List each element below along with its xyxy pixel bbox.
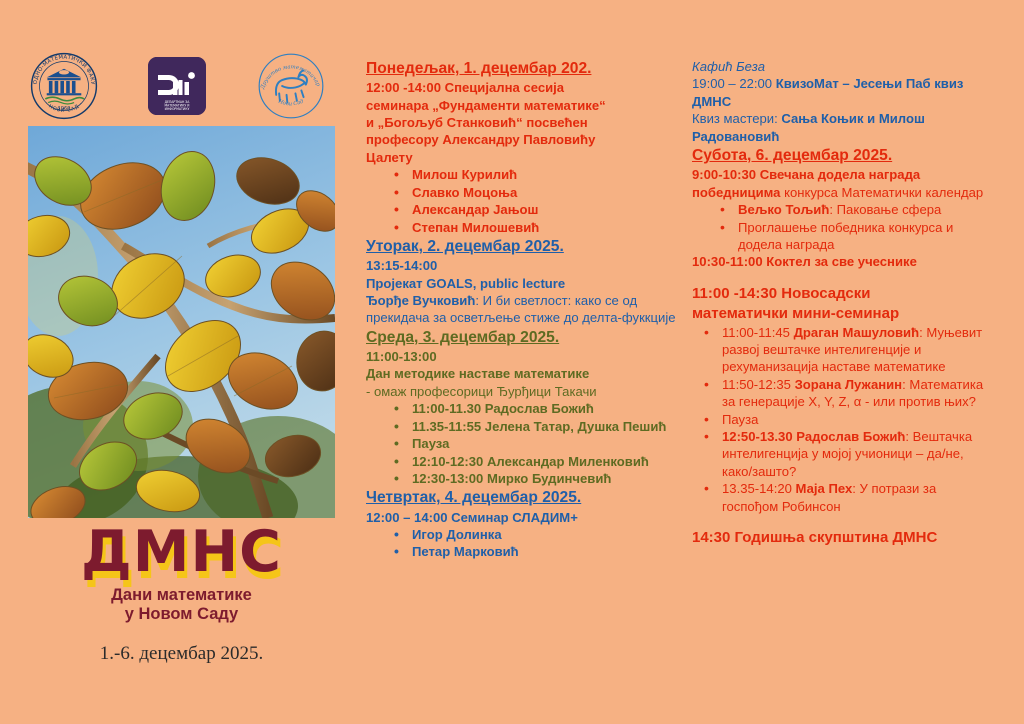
svg-text:Нови Сад: Нови Сад <box>276 98 305 107</box>
list-item: Пауза <box>692 411 992 428</box>
dmns-wordmark: ДМНС ДМНС Дани математике у Новом Саду <box>28 524 335 625</box>
quiz-venue: Кафић Беза <box>692 58 992 75</box>
block-friday-quiz: Кафић Беза 19:00 – 22:00 КвизоМат – Јесе… <box>692 58 992 145</box>
mini-item-3-speaker: Радослав Божић <box>796 429 905 444</box>
list-item: Игор Долинка <box>366 526 678 543</box>
day-title-thursday: Четвртак, 4. децембар 2025. <box>366 488 678 508</box>
wednesday-heading: Дан методике наставе математике <box>366 365 678 382</box>
block-saturday: Субота, 6. децембар 2025. 9:00-10:30 Све… <box>692 146 992 271</box>
wednesday-item-list: 11:00-11.30 Радослав Божић 11.35-11:55 Ј… <box>366 400 678 487</box>
thursday-item-list: Игор Долинка Петар Марковић <box>366 526 678 561</box>
saturday-awards: 9:00-10:30 Свечана додела награда победн… <box>692 166 992 201</box>
mini-item-0-time: 11:00-11:45 <box>722 325 794 340</box>
mini-item-4-time: 13.35-14:20 <box>722 481 796 496</box>
day-title-tuesday: Уторак, 2. децембар 2025. <box>366 237 678 257</box>
monday-line-5: Цалету <box>366 149 678 166</box>
quiz-time-title: 19:00 – 22:00 КвизоМат – Јесењи Паб квиз… <box>692 75 992 110</box>
day-title-monday: Понедељак, 1. децембар 202. <box>366 59 678 79</box>
autumn-leaves-photo <box>28 126 335 518</box>
mini-seminar-list: 11:00-11:45 Драган Машуловић: Муњевит ра… <box>692 324 992 515</box>
day-title-saturday: Субота, 6. децембар 2025. <box>692 146 992 166</box>
pmf-logo: ПРИРОДНО-МАТЕМАТИЧКИ ФАКУЛТЕТ · НОВИ САД… <box>28 50 100 122</box>
monday-line-3: и „Богољуб Станковић“ посвећен <box>366 114 678 131</box>
saturday-item-list: Вељко Тољић: Паковање сфера Проглашење п… <box>692 201 992 253</box>
annual-assembly: 14:30 Годишња скупштина ДМНС <box>692 528 992 548</box>
tuesday-time: 13:15-14:00 <box>366 257 678 274</box>
svg-text:1969: 1969 <box>58 106 71 112</box>
list-item: 11.35-11:55 Јелена Татар, Душка Пешић <box>366 418 678 435</box>
mini-item-1-speaker: Зорана Лужанин <box>795 377 903 392</box>
list-item: Пауза <box>366 435 678 452</box>
mini-item-0-speaker: Драган Машуловић <box>794 325 920 340</box>
logo-row: ПРИРОДНО-МАТЕМАТИЧКИ ФАКУЛТЕТ · НОВИ САД… <box>28 48 328 124</box>
wednesday-note: - омаж професорици Ђурђици Такачи <box>366 383 678 400</box>
list-item: 11:50-12:35 Зорана Лужанин: Математика з… <box>692 376 992 411</box>
day-title-wednesday: Среда, 3. децембар 2025. <box>366 328 678 348</box>
monday-line-1: 12:00 -14:00 Специјална сесија <box>366 79 678 96</box>
svg-text:ПРИРОДНО-МАТЕМАТИЧКИ ФАКУЛТЕТ: ПРИРОДНО-МАТЕМАТИЧКИ ФАКУЛТЕТ <box>28 50 95 86</box>
left-rail: ПРИРОДНО-МАТЕМАТИЧКИ ФАКУЛТЕТ · НОВИ САД… <box>0 0 356 724</box>
dmns-society-logo: Друштво математичара Нови Сад <box>254 49 328 123</box>
saturday-awards-plain: конкурса Математички календар <box>780 185 983 200</box>
list-item: 13.35-14:20 Маја Пех: У потрази за госпо… <box>692 480 992 515</box>
saturday-item-1-title: Проглашење победника конкурса и додела н… <box>738 220 953 252</box>
event-dates: 1.-6. децембар 2025. <box>28 643 335 665</box>
mini-item-4-speaker: Маја Пех <box>796 481 853 496</box>
block-mini-seminar: 11:00 -14:30 Новосадски математички мини… <box>692 284 992 515</box>
mini-seminar-heading-2: математички мини-семинар <box>692 304 992 324</box>
saturday-item-0-speaker: Вељко Тољић <box>738 202 829 217</box>
block-tuesday: Уторак, 2. децембар 2025. 13:15-14:00 Пр… <box>366 237 678 327</box>
poster-root: ПРИРОДНО-МАТЕМАТИЧКИ ФАКУЛТЕТ · НОВИ САД… <box>0 0 1024 724</box>
list-item: 11:00-11.30 Радослав Божић <box>366 400 678 417</box>
block-thursday: Четвртак, 4. децембар 2025. 12:00 – 14:0… <box>366 488 678 560</box>
svg-text:ИНФОРМАТИКУ: ИНФОРМАТИКУ <box>165 107 190 111</box>
mini-item-1-time: 11:50-12:35 <box>722 377 795 392</box>
saturday-cocktail: 10:30-11:00 Коктел за све учеснике <box>692 253 992 270</box>
list-item: Милош Курилић <box>366 166 678 183</box>
thursday-heading: 12:00 – 14:00 Семинар СЛАДИМ+ <box>366 509 678 526</box>
list-item: 11:00-11:45 Драган Машуловић: Муњевит ра… <box>692 324 992 376</box>
schedule-column-right: Кафић Беза 19:00 – 22:00 КвизоМат – Јесе… <box>692 58 992 548</box>
list-item: 12:50-13.30 Радослав Божић: Вештачка инт… <box>692 428 992 480</box>
list-item: Вељко Тољић: Паковање сфера <box>692 201 992 218</box>
mini-item-3-time: 12:50-13.30 <box>722 429 796 444</box>
list-item: 12:30-13:00 Мирко Будинчевић <box>366 470 678 487</box>
list-item: 12:10-12:30 Александар Миленковић <box>366 453 678 470</box>
mini-seminar-heading-1: 11:00 -14:30 Новосадски <box>692 284 992 304</box>
section-spacer <box>692 271 992 284</box>
list-item: Степан Милошевић <box>366 219 678 236</box>
list-item: Петар Марковић <box>366 543 678 560</box>
wednesday-time: 11:00-13:00 <box>366 348 678 365</box>
block-monday: Понедељак, 1. децембар 202. 12:00 -14:00… <box>366 59 678 236</box>
mini-item-2-title: Пауза <box>722 412 758 427</box>
dmns-wordmark-face: ДМНС <box>81 519 282 585</box>
list-item: Александар Јањош <box>366 201 678 218</box>
schedule-column-left: Понедељак, 1. децембар 202. 12:00 -14:00… <box>366 58 678 561</box>
monday-speaker-list: Милош Курилић Славко Моцоња Александар Ј… <box>366 166 678 236</box>
dmns-wordmark-letters: ДМНС ДМНС <box>81 524 282 581</box>
dmi-logo: ДЕПАРТМАН ЗА МАТЕМАТИКУ И ИНФОРМАТИКУ <box>148 57 206 115</box>
quiz-masters-label: Квиз мастери: <box>692 111 781 126</box>
quiz-masters: Квиз мастери: Сања Коњик и Милош Радован… <box>692 110 992 145</box>
monday-line-2: семинара „Фундаменти математике“ <box>366 97 678 114</box>
tuesday-heading: Пројекат GOALS, public lecture <box>366 275 678 292</box>
dmns-subtitle-line2: у Новом Саду <box>28 605 335 624</box>
list-item: Проглашење победника конкурса и додела н… <box>692 219 992 254</box>
block-wednesday: Среда, 3. децембар 2025. 11:00-13:00 Дан… <box>366 328 678 488</box>
tuesday-speaker: Ђорђе Вучковић <box>366 293 475 308</box>
list-item: Славко Моцоња <box>366 184 678 201</box>
tuesday-talk: Ђорђе Вучковић: И би светлост: како се о… <box>366 292 678 327</box>
monday-line-4: професору Александру Павловићу <box>366 131 678 148</box>
saturday-item-0-title: : Паковање сфера <box>829 202 941 217</box>
quiz-time: 19:00 – 22:00 <box>692 76 776 91</box>
section-spacer-2 <box>692 515 992 528</box>
